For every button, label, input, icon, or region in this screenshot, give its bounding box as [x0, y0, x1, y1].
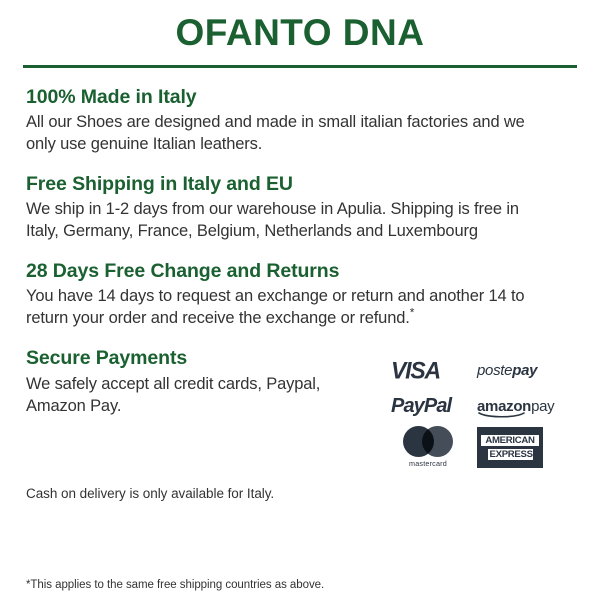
secure-payments-row: Secure Payments We safely accept all cre… — [26, 346, 574, 470]
section-heading-secure-payments: Secure Payments — [26, 346, 356, 370]
payment-logo-row-3: mastercard AMERICAN EXPRESS — [391, 424, 566, 470]
paypal-logo-cell: PayPal — [391, 395, 477, 418]
header-divider — [23, 65, 577, 68]
visa-icon: VISA — [391, 356, 440, 385]
payment-logo-row-2: PayPal amazonpay — [391, 388, 566, 424]
amazon-pay-icon: amazonpay — [477, 399, 554, 414]
cash-on-delivery-note: Cash on delivery is only available for I… — [26, 486, 574, 501]
section-made-in-italy: 100% Made in Italy All our Shoes are des… — [26, 85, 574, 156]
section-free-shipping: Free Shipping in Italy and EU We ship in… — [26, 172, 574, 243]
returns-body-text: You have 14 days to request an exchange … — [26, 287, 524, 327]
page-title: OFANTO DNA — [0, 12, 600, 55]
amex-line-2: EXPRESS — [487, 448, 534, 461]
section-heading-free-shipping: Free Shipping in Italy and EU — [26, 172, 574, 196]
section-secure-payments: Secure Payments We safely accept all cre… — [26, 346, 574, 470]
content-area: 100% Made in Italy All our Shoes are des… — [0, 85, 600, 502]
amazon-smile-icon — [478, 412, 526, 418]
amex-inner: AMERICAN EXPRESS — [480, 434, 540, 461]
section-change-and-returns: 28 Days Free Change and Returns You have… — [26, 259, 574, 330]
postepay-icon: postepay — [477, 362, 537, 379]
paypal-icon: PayPal — [391, 395, 451, 418]
postepay-logo-cell: postepay — [477, 362, 566, 379]
secure-payments-text: Secure Payments We safely accept all cre… — [26, 346, 356, 417]
mastercard-logo-cell: mastercard — [391, 426, 477, 468]
mastercard-circles — [403, 426, 453, 457]
footnote-text: *This applies to the same free shipping … — [26, 579, 324, 591]
payment-logo-row-1: VISA postepay — [391, 352, 566, 388]
postepay-label-light: poste — [477, 362, 512, 379]
amazon-pay-label-light: pay — [531, 398, 554, 415]
section-body-change-and-returns: You have 14 days to request an exchange … — [26, 286, 556, 330]
payment-logos-group: VISA postepay PayPal amazonpay — [391, 346, 566, 470]
section-body-free-shipping: We ship in 1-2 days from our warehouse i… — [26, 199, 556, 243]
returns-footnote-marker: * — [410, 306, 415, 320]
section-heading-change-and-returns: 28 Days Free Change and Returns — [26, 259, 574, 283]
postepay-label-bold: pay — [512, 362, 537, 379]
mastercard-circle-right — [422, 426, 453, 457]
american-express-logo-cell: AMERICAN EXPRESS — [477, 427, 566, 468]
ofanto-dna-info-panel: OFANTO DNA 100% Made in Italy All our Sh… — [0, 0, 600, 600]
visa-logo-cell: VISA — [391, 357, 477, 384]
section-body-secure-payments: We safely accept all credit cards, Paypa… — [26, 374, 356, 418]
amazon-pay-logo-cell: amazonpay — [477, 399, 566, 414]
amex-line-1: AMERICAN — [480, 434, 540, 447]
section-body-made-in-italy: All our Shoes are designed and made in s… — [26, 112, 556, 156]
mastercard-label: mastercard — [409, 459, 447, 468]
american-express-icon: AMERICAN EXPRESS — [477, 427, 543, 468]
mastercard-icon: mastercard — [391, 426, 465, 468]
section-heading-made-in-italy: 100% Made in Italy — [26, 85, 574, 109]
brand-header: OFANTO DNA — [0, 0, 600, 68]
